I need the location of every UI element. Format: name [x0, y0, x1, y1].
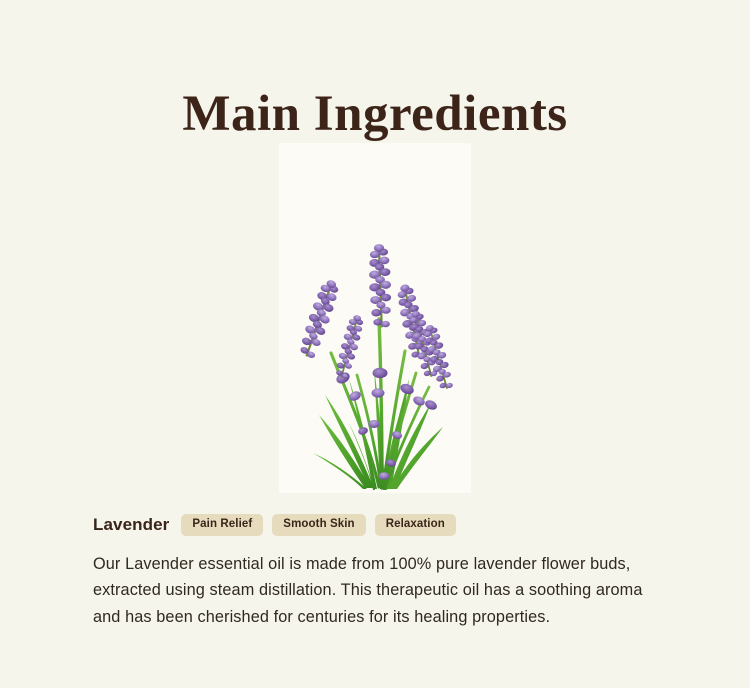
ingredient-info: Lavender Pain Relief Smooth Skin Relaxat… [93, 512, 663, 646]
ingredients-page: Main Ingredients [0, 0, 750, 688]
ingredient-description: Our Lavender essential oil is made from … [93, 551, 653, 630]
lavender-plant-image [279, 143, 471, 493]
page-title: Main Ingredients [0, 86, 750, 142]
ingredient-header-row: Lavender Pain Relief Smooth Skin Relaxat… [93, 512, 663, 538]
tag-relaxation[interactable]: Relaxation [375, 514, 456, 537]
ingredient-name: Lavender [93, 515, 169, 535]
ingredient-tag-list: Pain Relief Smooth Skin Relaxation [181, 514, 455, 537]
tag-smooth-skin[interactable]: Smooth Skin [272, 514, 365, 537]
tag-pain-relief[interactable]: Pain Relief [181, 514, 263, 537]
